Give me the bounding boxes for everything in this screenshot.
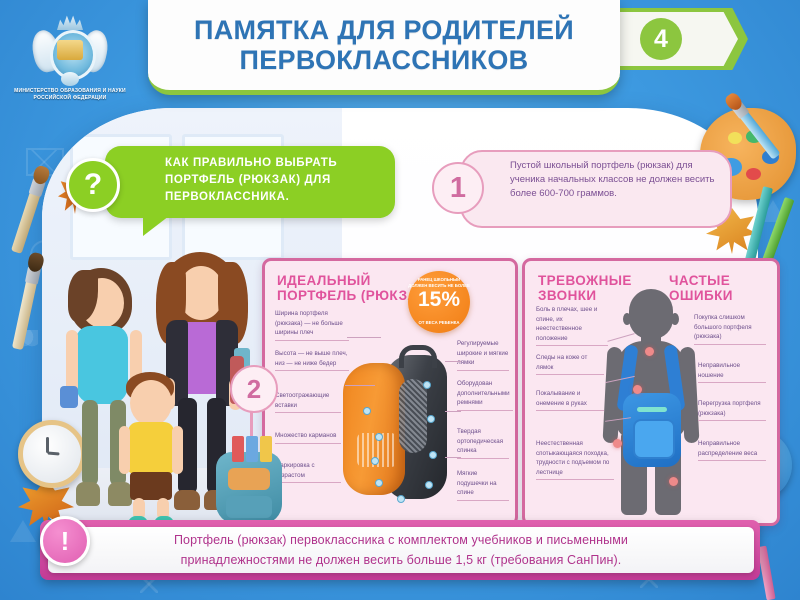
ideal-note-6: Оборудован дополнительными ремнями bbox=[457, 379, 513, 411]
ideal-note-4: Маркировка с возрастом bbox=[275, 461, 341, 483]
ideal-note-7: Твердая ортопедическая спинка bbox=[457, 427, 509, 459]
footer-text-line1: Портфель (рюкзак) первоклассника с компл… bbox=[174, 533, 628, 547]
percent-badge-value: 15% bbox=[408, 289, 470, 311]
mistake-note-2: Перегрузка портфеля (рюкзака) bbox=[698, 399, 766, 421]
slide-number-flag: 4 bbox=[618, 8, 748, 70]
alarm-note-1: Следы на коже от лямок bbox=[536, 353, 604, 375]
emblem-caption-line2: РОССИЙСКОЙ ФЕДЕРАЦИИ bbox=[14, 95, 126, 102]
mistake-note-0: Покупка слишком большого портфеля (рюкза… bbox=[694, 313, 766, 345]
backpack-photo bbox=[341, 345, 453, 505]
footer-text-line2: принадлежностями не должен весить больше… bbox=[181, 553, 622, 567]
slide-number-badge: 4 bbox=[640, 18, 682, 60]
page-title: ПАМЯТКА ДЛЯ РОДИТЕЛЕЙ ПЕРВОКЛАССНИКОВ bbox=[148, 0, 620, 95]
alarm-note-0: Боль в плечах, шее и спине, их неестеств… bbox=[536, 305, 608, 346]
bag-pocket bbox=[226, 496, 272, 518]
school-bag-illustration bbox=[216, 452, 282, 524]
mistake-note-1: Неправильное ношение bbox=[698, 361, 766, 383]
ideal-backpack-panel: ИДЕАЛЬНЫЙ ПОРТФЕЛЬ (РЮКЗАК) РАНЕЦ ШКОЛЬН… bbox=[262, 258, 518, 526]
percent-badge-top-text: РАНЕЦ ШКОЛЬНЫЙ ДОЛЖЕН ВЕСИТЬ НЕ БОЛЕЕ bbox=[408, 277, 470, 288]
footer-note: Портфель (рюкзак) первоклассника с компл… bbox=[48, 527, 754, 573]
alarms-title-line1: ТРЕВОЖНЫЕ bbox=[538, 273, 634, 288]
mistakes-title-line1: ЧАСТЫЕ bbox=[669, 273, 765, 288]
fact-bubble: Пустой школьный портфель (рюкзак) для уч… bbox=[460, 150, 732, 228]
warning-signs-panel: ТРЕВОЖНЫЕ ЗВОНКИ ЧАСТЫЕ ОШИБКИ Боль в пл… bbox=[522, 258, 780, 526]
ministry-emblem: МИНИСТЕРСТВО ОБРАЗОВАНИЯ И НАУКИ РОССИЙС… bbox=[14, 12, 126, 112]
panel-number-badge: 2 bbox=[230, 365, 278, 413]
child-figure bbox=[118, 372, 184, 530]
alarm-note-2: Покалывание и онемение в руках bbox=[536, 389, 604, 411]
title-line-1: ПАМЯТКА ДЛЯ РОДИТЕЛЕЙ bbox=[194, 15, 574, 45]
mistake-note-3: Неправильное распределение веса bbox=[698, 439, 766, 461]
ideal-note-0: Ширина портфеля (рюкзака) — не больше ши… bbox=[275, 309, 349, 341]
percent-badge-bottom-text: ОТ ВЕСА РЕБЕНКА bbox=[408, 320, 470, 326]
exclamation-mark-icon: ! bbox=[40, 516, 90, 566]
bag-flap bbox=[228, 468, 270, 490]
ideal-note-1: Высота — не выше плеч, низ — не ниже бед… bbox=[275, 349, 349, 371]
ideal-note-2: Светоотражающие вставки bbox=[275, 391, 341, 413]
question-mark-icon: ? bbox=[66, 158, 120, 212]
question-bubble-text: КАК ПРАВИЛЬНО ВЫБРАТЬ ПОРТФЕЛЬ (РЮКЗАК) … bbox=[165, 155, 385, 206]
fact-number-badge: 1 bbox=[432, 162, 484, 214]
emblem-caption-line1: МИНИСТЕРСТВО ОБРАЗОВАНИЯ И НАУКИ bbox=[14, 88, 126, 95]
ministry-emblem-icon bbox=[33, 12, 107, 86]
child-silhouette bbox=[603, 289, 699, 515]
ideal-note-5: Регулируемые широкие и мягкие лямки bbox=[457, 339, 509, 371]
fact-bubble-text: Пустой школьный портфель (рюкзак) для уч… bbox=[510, 159, 720, 201]
ideal-note-3: Множество карманов bbox=[275, 431, 341, 444]
question-bubble: КАК ПРАВИЛЬНО ВЫБРАТЬ ПОРТФЕЛЬ (РЮКЗАК) … bbox=[105, 146, 395, 218]
ideal-note-8: Мягкие подушечки на спине bbox=[457, 469, 509, 501]
title-line-2: ПЕРВОКЛАССНИКОВ bbox=[240, 45, 529, 75]
weight-percent-badge: РАНЕЦ ШКОЛЬНЫЙ ДОЛЖЕН ВЕСИТЬ НЕ БОЛЕЕ 15… bbox=[408, 271, 470, 333]
alarm-note-3: Неестественная спотыкающаяся походка, тр… bbox=[536, 439, 614, 480]
